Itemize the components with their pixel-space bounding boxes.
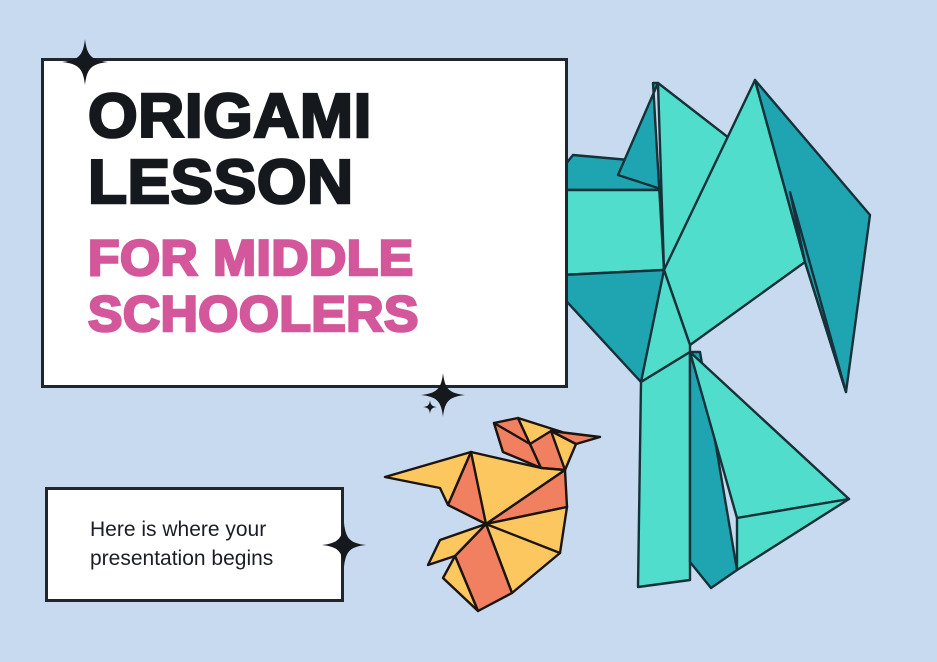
title-line-schoolers: SCHOOLERS xyxy=(88,287,561,341)
teal-wing-left-dark xyxy=(618,83,664,270)
sparkle-icon-lower-left xyxy=(322,523,366,567)
title-card: ORIGAMI LESSON FOR MIDDLE SCHOOLERS xyxy=(41,58,568,388)
sparkle-icon-top-left xyxy=(62,39,108,85)
teal-wing-left-light xyxy=(658,83,738,270)
title-line-lesson: LESSON xyxy=(88,153,561,213)
teal-body-main-light xyxy=(664,80,805,345)
title-text-block: ORIGAMI LESSON FOR MIDDLE SCHOOLERS xyxy=(88,87,547,341)
orange-neck-dark xyxy=(494,423,541,468)
orange-tail-sliver xyxy=(443,556,478,611)
orange-beak-under xyxy=(530,431,565,470)
subtitle-card: Here is where your presentation begins xyxy=(45,487,344,602)
origami-bird-orange xyxy=(385,418,600,611)
teal-lower-body-light xyxy=(641,270,690,382)
title-line-for-middle: FOR MIDDLE xyxy=(88,231,561,285)
teal-wing-right-spike xyxy=(790,192,846,392)
subtitle-text: Here is where your presentation begins xyxy=(48,516,341,574)
sparkle-icon-tiny xyxy=(423,400,437,414)
presentation-slide: ORIGAMI LESSON FOR MIDDLE SCHOOLERS Here… xyxy=(0,0,937,662)
orange-beak-dark xyxy=(551,431,600,444)
title-line-origami: ORIGAMI xyxy=(88,87,561,147)
orange-head-top xyxy=(494,418,530,452)
orange-breast-light xyxy=(471,452,565,524)
teal-tail-right-wedge xyxy=(737,499,849,570)
orange-beak-light xyxy=(541,431,576,470)
orange-tail-dark xyxy=(455,524,512,611)
orange-wing-left-dark xyxy=(448,452,497,524)
teal-tail-left-light xyxy=(638,352,690,587)
orange-head-flag xyxy=(518,418,562,444)
teal-tail-right-light xyxy=(690,352,849,518)
orange-tail-wedge-light xyxy=(428,524,486,565)
orange-tail-light xyxy=(486,524,560,593)
orange-wing-left-light xyxy=(385,452,471,505)
orange-chest-dark xyxy=(486,470,567,524)
teal-wing-right-dark xyxy=(755,80,870,392)
teal-tail-center-dark xyxy=(690,352,737,588)
orange-lower-body-light xyxy=(486,507,567,553)
